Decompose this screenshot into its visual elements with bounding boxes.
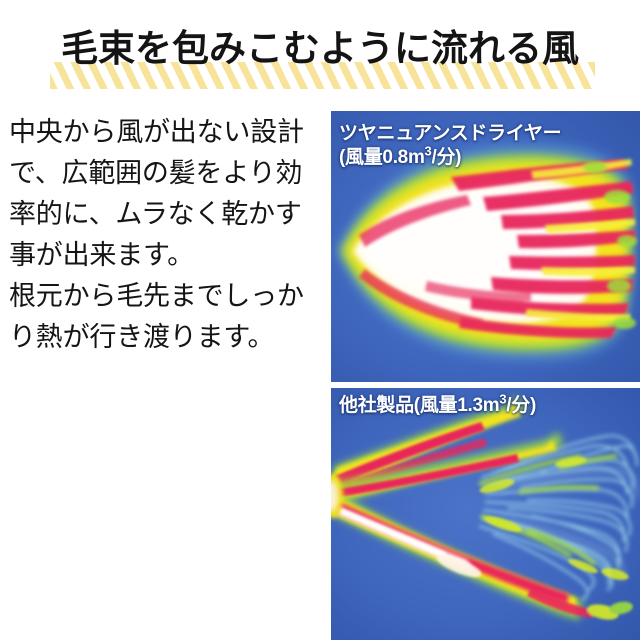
description-line: で、広範囲の髪をより効	[9, 153, 324, 194]
thermal-image-own-product: ツヤニュアンスドライヤー (風量0.8m3/分)	[331, 111, 640, 382]
thermal-plume-narrow	[331, 388, 640, 640]
description-line: 根元から毛先までしっか	[9, 276, 324, 317]
promo-panel: 毛束を包みこむように流れる風 中央から風が出ない設計 で、広範囲の髪をより効 率…	[0, 0, 640, 640]
label-own-product-line1: ツヤニュアンスドライヤー	[339, 122, 561, 146]
page-title: 毛束を包みこむように流れる風	[0, 22, 640, 94]
description-line: 率的に、ムラなく乾かす	[9, 194, 324, 235]
airflow-prefix: (風量0.8m	[339, 147, 425, 168]
competitor-airflow-prefix: 他社製品(風量1.3m	[339, 395, 499, 416]
description-line: 中央から風が出ない設計	[9, 112, 324, 153]
airflow-suffix: /分)	[431, 147, 461, 168]
label-competitor: 他社製品(風量1.3m3/分)	[339, 394, 536, 418]
label-own-product-line2: (風量0.8m3/分)	[339, 146, 561, 170]
label-own-product: ツヤニュアンスドライヤー (風量0.8m3/分)	[339, 122, 561, 170]
competitor-airflow-suffix: /分)	[506, 395, 536, 416]
description-line: 事が出来ます。	[9, 235, 324, 276]
thermal-image-competitor: 他社製品(風量1.3m3/分)	[331, 388, 640, 640]
title-text: 毛束を包みこむように流れる風	[0, 22, 640, 76]
description-line: り熱が行き渡ります。	[9, 317, 324, 358]
description-text: 中央から風が出ない設計 で、広範囲の髪をより効 率的に、ムラなく乾かす 事が出来…	[9, 112, 324, 358]
